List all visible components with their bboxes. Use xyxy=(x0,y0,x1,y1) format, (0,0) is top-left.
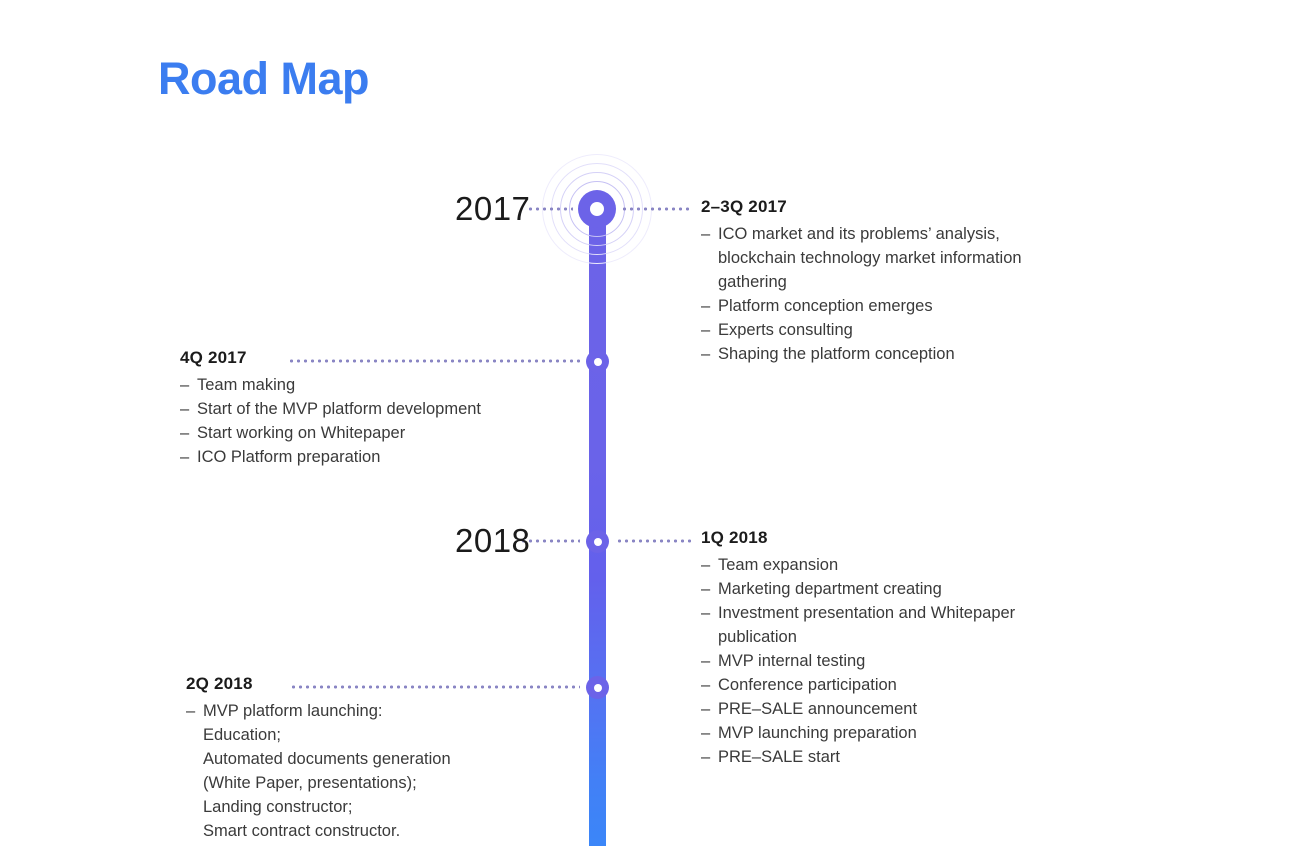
milestone-item-text: Start working on Whitepaper xyxy=(197,424,405,442)
bullet-dash-icon: – xyxy=(180,373,189,397)
milestone-item: –Start of the MVP platform development xyxy=(180,397,580,421)
dotted-connector-2018-right xyxy=(616,539,693,543)
timeline-node-2q-2018[interactable] xyxy=(586,676,609,699)
timeline-node-2017[interactable] xyxy=(578,190,616,228)
milestone-item-text: MVP platform launching: Education; Autom… xyxy=(203,702,451,840)
bullet-dash-icon: – xyxy=(180,397,189,421)
milestone-item-text: Investment presentation and Whitepaper p… xyxy=(718,604,1015,646)
milestone-4q-2017: 4Q 2017 –Team making –Start of the MVP p… xyxy=(180,348,580,469)
milestone-item-text: Marketing department creating xyxy=(718,580,942,598)
bullet-dash-icon: – xyxy=(701,673,710,697)
milestone-item: –Shaping the platform conception xyxy=(701,342,1121,366)
dotted-connector-2017-right xyxy=(621,207,693,211)
dotted-connector-2017-left xyxy=(527,207,573,211)
dotted-connector-4q-2017 xyxy=(288,359,580,363)
node-hole xyxy=(594,684,602,692)
bullet-dash-icon: – xyxy=(701,222,710,246)
milestone-item-list: –Team expansion –Marketing department cr… xyxy=(701,553,1121,769)
year-label-2017: 2017 xyxy=(455,192,530,225)
milestone-heading: 1Q 2018 xyxy=(701,528,1121,548)
timeline-node-4q-2017[interactable] xyxy=(586,350,609,373)
milestone-item: –MVP launching preparation xyxy=(701,721,1121,745)
bullet-dash-icon: – xyxy=(701,294,710,318)
milestone-item: –MVP internal testing xyxy=(701,649,1121,673)
milestone-item-text: PRE–SALE announcement xyxy=(718,700,917,718)
milestone-item-text: Shaping the platform conception xyxy=(718,345,955,363)
bullet-dash-icon: – xyxy=(701,745,710,769)
milestone-item-list: –Team making –Start of the MVP platform … xyxy=(180,373,580,469)
bullet-dash-icon: – xyxy=(701,601,710,625)
milestone-item-text: Team making xyxy=(197,376,295,394)
bullet-dash-icon: – xyxy=(701,697,710,721)
year-label-2018: 2018 xyxy=(455,524,530,557)
bullet-dash-icon: – xyxy=(180,421,189,445)
milestone-item: –Investment presentation and Whitepaper … xyxy=(701,601,1121,649)
milestone-item-text: Start of the MVP platform development xyxy=(197,400,481,418)
bullet-dash-icon: – xyxy=(186,699,195,723)
milestone-item-text: MVP internal testing xyxy=(718,652,865,670)
node-hole xyxy=(594,538,602,546)
bullet-dash-icon: – xyxy=(701,577,710,601)
node-hole xyxy=(594,358,602,366)
milestone-heading: 2–3Q 2017 xyxy=(701,197,1121,217)
bullet-dash-icon: – xyxy=(701,721,710,745)
milestone-item-text: Platform conception emerges xyxy=(718,297,933,315)
milestone-item: –PRE–SALE start xyxy=(701,745,1121,769)
timeline-node-2018[interactable] xyxy=(586,530,609,553)
milestone-item: –PRE–SALE announcement xyxy=(701,697,1121,721)
milestone-item: –Start working on Whitepaper xyxy=(180,421,580,445)
milestone-2q-2018: 2Q 2018 –MVP platform launching: Educati… xyxy=(186,674,586,843)
milestone-item: –MVP platform launching: Education; Auto… xyxy=(186,699,586,843)
milestone-item: –Marketing department creating xyxy=(701,577,1121,601)
bullet-dash-icon: – xyxy=(701,342,710,366)
milestone-item-text: Team expansion xyxy=(718,556,838,574)
milestone-item: –Team expansion xyxy=(701,553,1121,577)
dotted-connector-2q-2018 xyxy=(290,685,580,689)
milestone-item: –Platform conception emerges xyxy=(701,294,1121,318)
milestone-item: –ICO Platform preparation xyxy=(180,445,580,469)
milestone-item-text: Experts consulting xyxy=(718,321,853,339)
timeline-spine xyxy=(589,209,606,846)
bullet-dash-icon: – xyxy=(701,553,710,577)
node-hole xyxy=(590,202,604,216)
milestone-item: –ICO market and its problems’ analysis, … xyxy=(701,222,1121,294)
milestone-item-text: PRE–SALE start xyxy=(718,748,840,766)
milestone-item: –Team making xyxy=(180,373,580,397)
milestone-item-list: –MVP platform launching: Education; Auto… xyxy=(186,699,586,843)
bullet-dash-icon: – xyxy=(701,649,710,673)
milestone-item: –Conference participation xyxy=(701,673,1121,697)
page-title: Road Map xyxy=(158,56,369,101)
milestone-item-text: MVP launching preparation xyxy=(718,724,917,742)
milestone-1q-2018: 1Q 2018 –Team expansion –Marketing depar… xyxy=(701,528,1121,769)
milestone-item-text: ICO Platform preparation xyxy=(197,448,380,466)
milestone-2-3q-2017: 2–3Q 2017 –ICO market and its problems’ … xyxy=(701,197,1121,366)
milestone-item-list: –ICO market and its problems’ analysis, … xyxy=(701,222,1121,366)
milestone-item-text: ICO market and its problems’ analysis, b… xyxy=(718,225,1022,291)
bullet-dash-icon: – xyxy=(701,318,710,342)
bullet-dash-icon: – xyxy=(180,445,189,469)
milestone-item-text: Conference participation xyxy=(718,676,897,694)
milestone-item: –Experts consulting xyxy=(701,318,1121,342)
